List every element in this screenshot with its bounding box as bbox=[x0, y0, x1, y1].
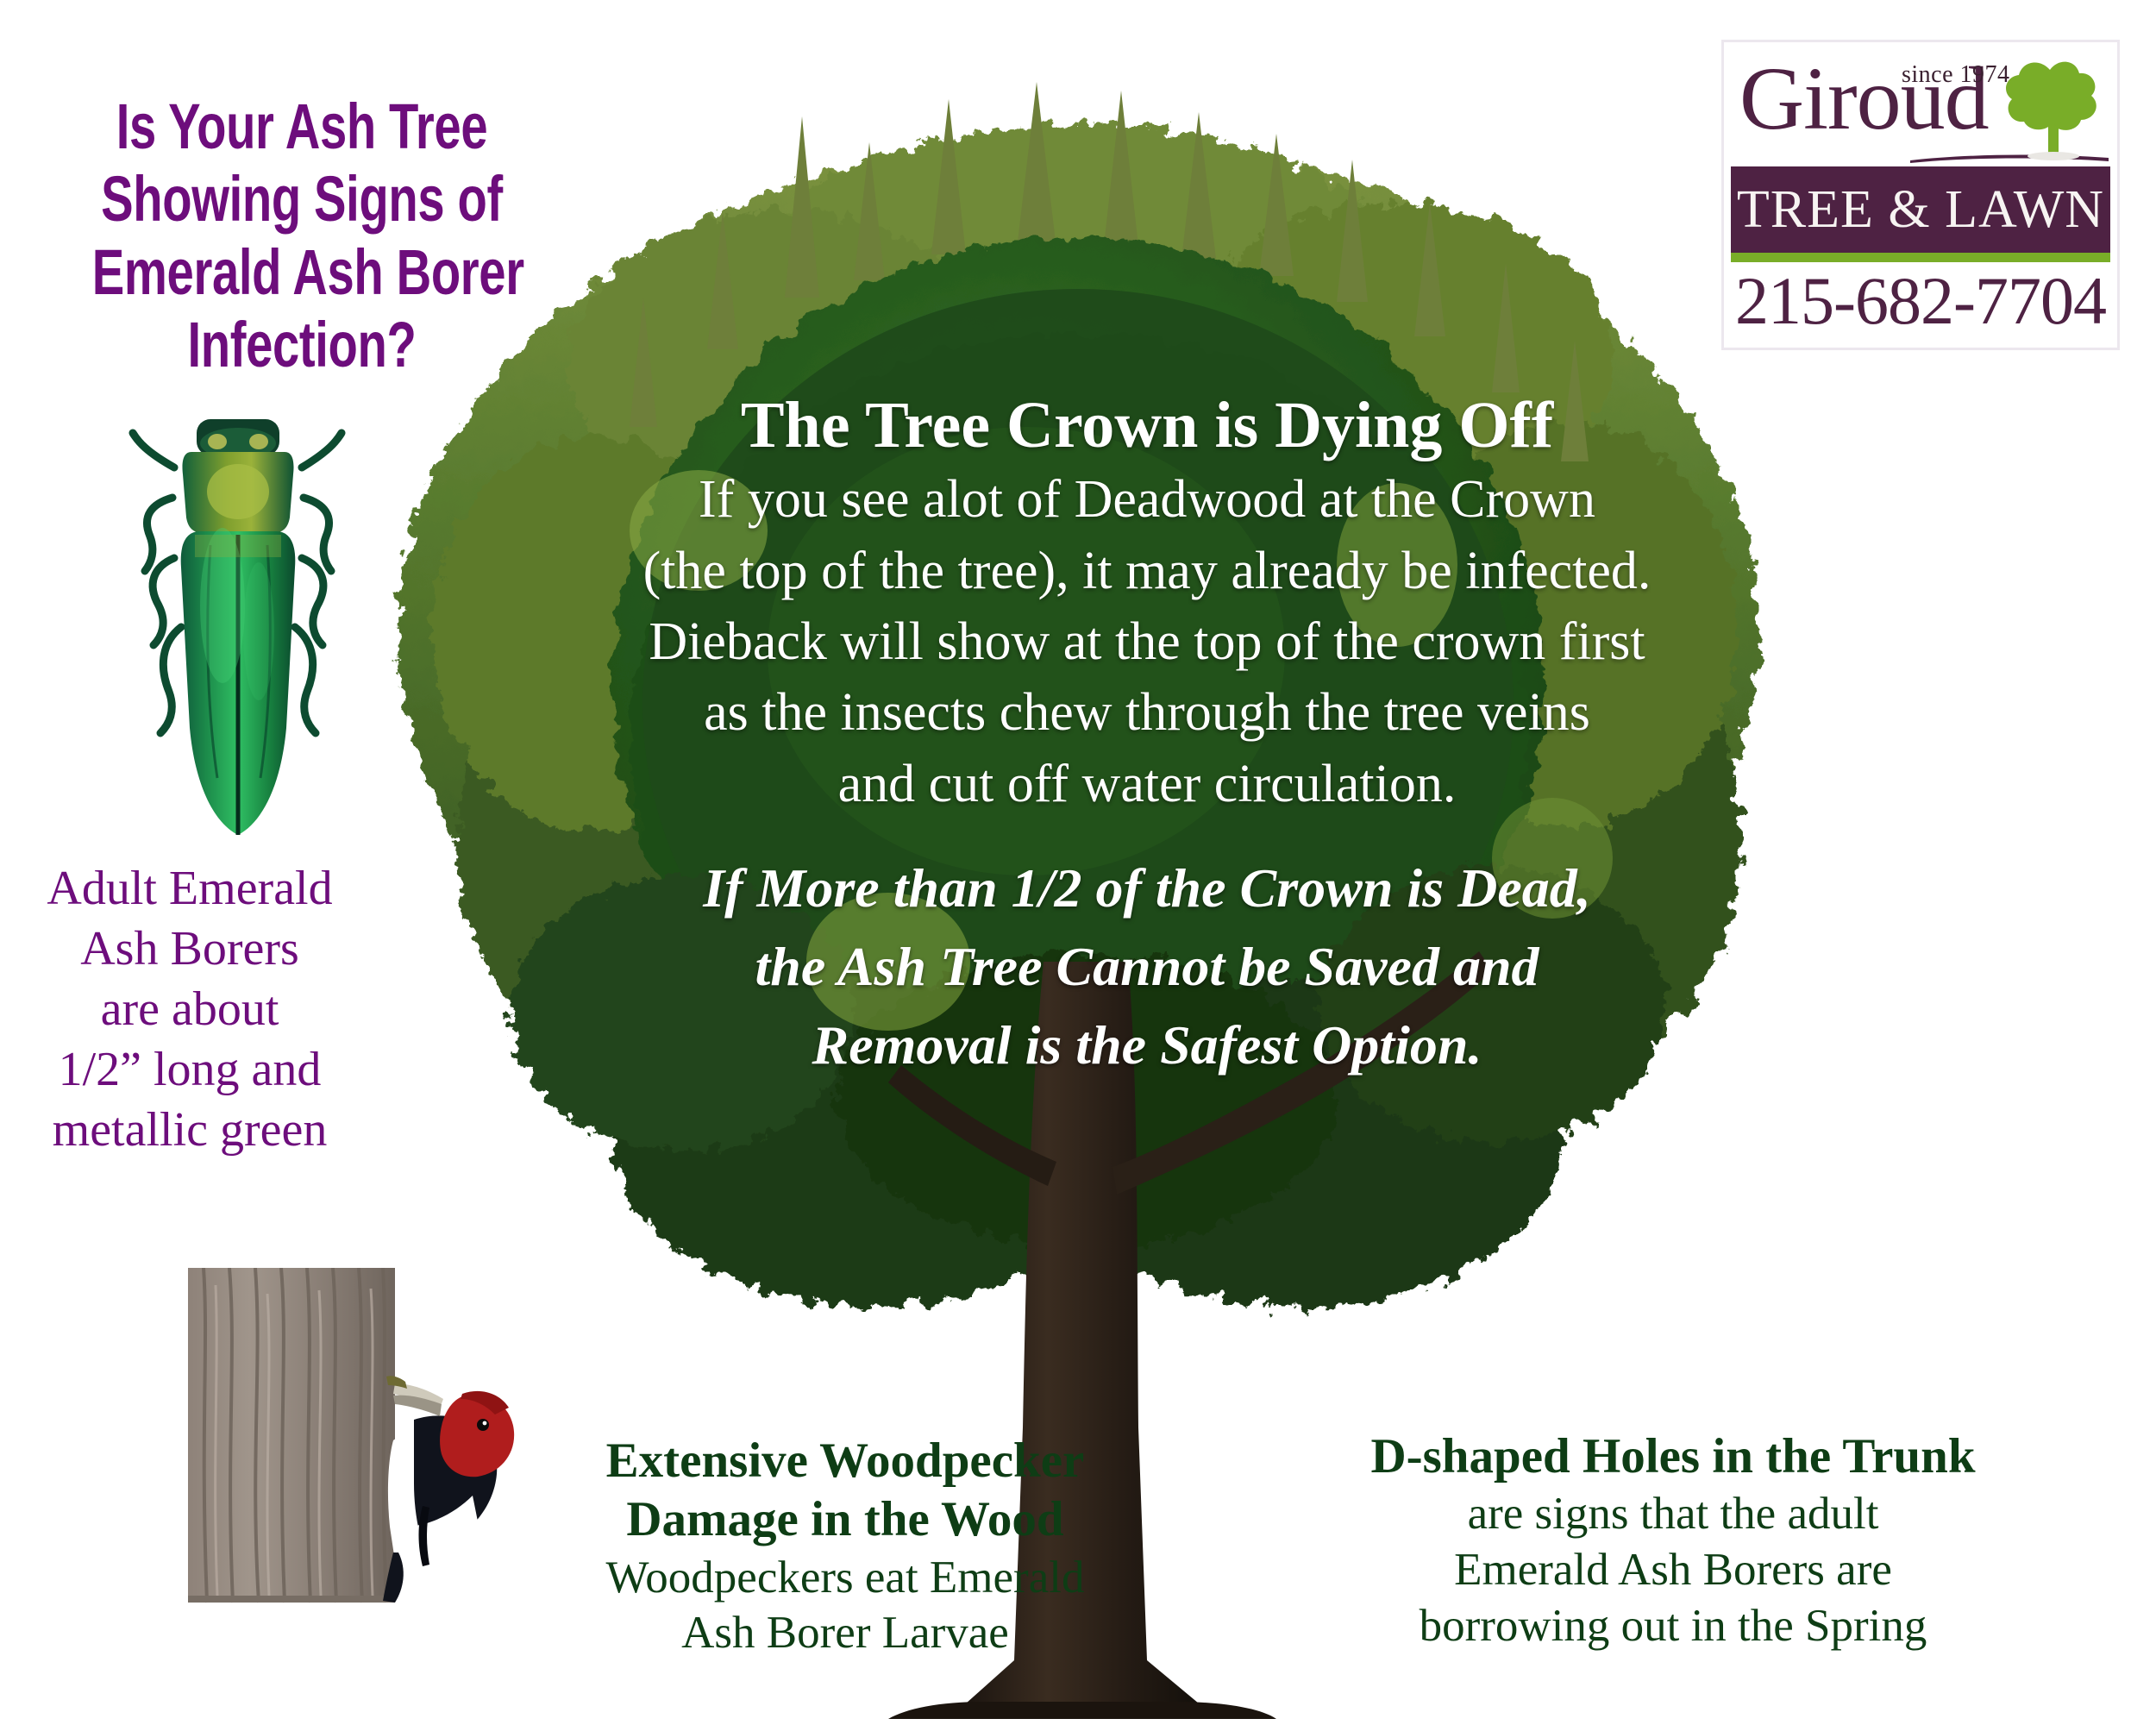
woodpecker-caption: Extensive Woodpecker Damage in the Wood … bbox=[517, 1432, 1173, 1661]
woodpecker-title-line-1: Extensive Woodpecker bbox=[517, 1432, 1173, 1490]
headline-line-3: Emerald Ash Borer bbox=[92, 236, 511, 309]
crown-body-line-3: Dieback will show at the top of the crow… bbox=[552, 606, 1742, 677]
beetle-caption-line-5: metallic green bbox=[9, 1100, 371, 1160]
woodpecker-body-line-2: Ash Borer Larvae bbox=[517, 1605, 1173, 1661]
beetle-caption-line-4: 1/2” long and bbox=[9, 1039, 371, 1100]
page-title: Is Your Ash Tree Showing Signs of Emeral… bbox=[92, 91, 511, 381]
logo-since-text: since 1974 bbox=[1902, 61, 2010, 89]
woodpecker-illustration bbox=[188, 1268, 533, 1639]
woodpecker-title-line-2: Damage in the Wood bbox=[517, 1490, 1173, 1549]
woodpecker-body bbox=[383, 1376, 514, 1603]
red-headed-woodpecker-on-bark-icon bbox=[188, 1268, 533, 1639]
beetle-caption-line-1: Adult Emerald bbox=[9, 858, 371, 919]
beetle-caption-line-3: are about bbox=[9, 979, 371, 1039]
holes-body-line-3: borrowing out in the Spring bbox=[1276, 1598, 2070, 1654]
crown-body-line-2: (the top of the tree), it may already be… bbox=[552, 536, 1742, 606]
company-logo[interactable]: Giroud since 1974 TREE & LAWN 215-682-77… bbox=[1721, 40, 2120, 350]
holes-title-line-1: D-shaped Holes in the Trunk bbox=[1276, 1427, 2070, 1486]
crown-text-block: The Tree Crown is Dying Off If you see a… bbox=[552, 390, 1742, 819]
beetle-caption-line-2: Ash Borers bbox=[9, 919, 371, 979]
headline-line-4: Infection? bbox=[92, 309, 511, 381]
logo-band-text: TREE & LAWN bbox=[1737, 179, 2104, 241]
beetle-caption: Adult Emerald Ash Borers are about 1/2” … bbox=[9, 858, 371, 1160]
crown-emphasis-line-2: the Ash Tree Cannot be Saved and bbox=[552, 928, 1742, 1007]
logo-wordmark-row: Giroud since 1974 bbox=[1731, 49, 2110, 165]
woodpecker-body-line-1: Woodpeckers eat Emerald bbox=[517, 1550, 1173, 1606]
emerald-ash-borer-beetle-icon bbox=[121, 407, 354, 847]
infographic-canvas: Is Your Ash Tree Showing Signs of Emeral… bbox=[0, 0, 2156, 1725]
holes-body-line-1: are signs that the adult bbox=[1276, 1486, 2070, 1542]
d-shaped-holes-caption: D-shaped Holes in the Trunk are signs th… bbox=[1276, 1427, 2070, 1653]
logo-band: TREE & LAWN bbox=[1731, 166, 2110, 253]
crown-body: If you see alot of Deadwood at the Crown… bbox=[552, 464, 1742, 819]
crown-body-line-1: If you see alot of Deadwood at the Crown bbox=[552, 464, 1742, 535]
logo-inner: Giroud since 1974 TREE & LAWN 215-682-77… bbox=[1731, 49, 2110, 341]
logo-phone-number[interactable]: 215-682-7704 bbox=[1731, 266, 2110, 336]
beetle-illustration bbox=[121, 407, 354, 847]
headline-line-2: Showing Signs of bbox=[92, 163, 511, 235]
crown-emphasis-line-3: Removal is the Safest Option. bbox=[552, 1007, 1742, 1085]
crown-body-line-4: as the insects chew through the tree vei… bbox=[552, 677, 1742, 748]
headline-line-1: Is Your Ash Tree bbox=[92, 91, 511, 163]
crown-body-line-5: and cut off water circulation. bbox=[552, 749, 1742, 819]
green-tree-icon bbox=[1998, 49, 2109, 163]
crown-emphasis-block: If More than 1/2 of the Crown is Dead, t… bbox=[552, 850, 1742, 1085]
holes-body-line-2: Emerald Ash Borers are bbox=[1276, 1542, 2070, 1598]
crown-title: The Tree Crown is Dying Off bbox=[552, 390, 1742, 461]
logo-green-underline bbox=[1731, 253, 2110, 262]
crown-emphasis-line-1: If More than 1/2 of the Crown is Dead, bbox=[552, 850, 1742, 928]
